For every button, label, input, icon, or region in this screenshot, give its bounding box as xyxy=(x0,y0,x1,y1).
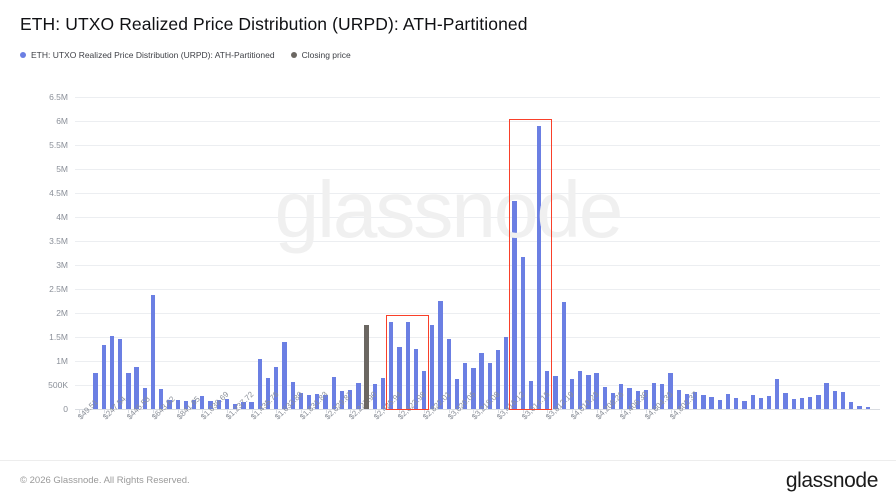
bar[interactable] xyxy=(282,342,286,409)
y-axis-tick-label: 5.5M xyxy=(16,140,68,150)
y-axis-tick-label: 0 xyxy=(16,404,68,414)
bar[interactable] xyxy=(709,397,713,409)
bar[interactable] xyxy=(504,337,508,409)
bar[interactable] xyxy=(126,373,130,409)
y-axis-tick-label: 3M xyxy=(16,260,68,270)
glassnode-logo: glassnode xyxy=(786,469,878,493)
y-axis-tick-label: 3.5M xyxy=(16,236,68,246)
bar[interactable] xyxy=(792,399,796,409)
bar[interactable] xyxy=(701,395,705,409)
y-axis-tick-label: 4M xyxy=(16,212,68,222)
bar[interactable] xyxy=(775,379,779,409)
y-axis-tick-label: 4.5M xyxy=(16,188,68,198)
bar[interactable] xyxy=(176,400,180,409)
bar[interactable] xyxy=(249,402,253,409)
bar[interactable] xyxy=(200,396,204,409)
bar[interactable] xyxy=(849,402,853,409)
bar[interactable] xyxy=(742,401,746,409)
bar[interactable] xyxy=(430,325,434,409)
bar[interactable] xyxy=(751,395,755,409)
chart-canvas: glassnode 0500K1M1.5M2M2.5M3M3.5M4M4.5M5… xyxy=(0,0,896,460)
bar[interactable] xyxy=(726,394,730,409)
bar[interactable] xyxy=(833,391,837,409)
bar[interactable] xyxy=(274,367,278,409)
bar[interactable] xyxy=(767,396,771,409)
bar[interactable] xyxy=(841,392,845,409)
bar[interactable] xyxy=(783,393,787,409)
bar[interactable] xyxy=(471,368,475,409)
y-axis-tick-label: 6M xyxy=(16,116,68,126)
y-axis-tick-label: 6.5M xyxy=(16,92,68,102)
bar[interactable] xyxy=(151,295,155,409)
bar[interactable] xyxy=(759,398,763,409)
bar[interactable] xyxy=(800,398,804,409)
bar[interactable] xyxy=(734,398,738,409)
bar[interactable] xyxy=(537,126,541,409)
closing-price-bar[interactable] xyxy=(364,325,368,409)
y-axis-tick-label: 5M xyxy=(16,164,68,174)
bar[interactable] xyxy=(718,400,722,409)
bar[interactable] xyxy=(110,336,114,409)
bar[interactable] xyxy=(824,383,828,409)
bar[interactable] xyxy=(808,397,812,409)
bar[interactable] xyxy=(816,395,820,409)
y-axis-tick-label: 1.5M xyxy=(16,332,68,342)
bar[interactable] xyxy=(102,345,106,409)
plot-area xyxy=(75,97,880,409)
bar[interactable] xyxy=(521,257,525,409)
copyright-text: © 2026 Glassnode. All Rights Reserved. xyxy=(20,475,190,486)
y-axis-tick-label: 500K xyxy=(16,380,68,390)
y-axis-tick-label: 2.5M xyxy=(16,284,68,294)
bar[interactable] xyxy=(406,322,410,409)
y-axis-tick-label: 2M xyxy=(16,308,68,318)
y-axis-tick-label: 1M xyxy=(16,356,68,366)
bar[interactable] xyxy=(857,406,861,409)
footer: © 2026 Glassnode. All Rights Reserved. g… xyxy=(0,460,896,504)
bar[interactable] xyxy=(512,201,516,409)
bar[interactable] xyxy=(866,407,870,409)
